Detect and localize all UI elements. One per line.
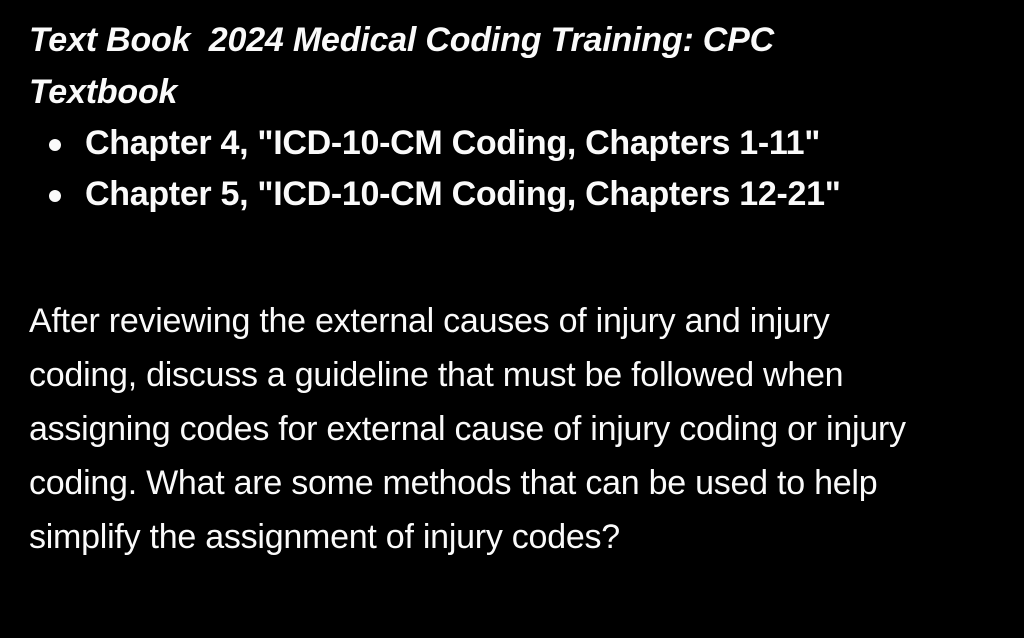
page-title: Text Book 2024 Medical Coding Training: … <box>29 14 919 118</box>
section-spacer <box>29 220 994 294</box>
list-item-label: Chapter 5, "ICD-10-CM Coding, Chapters 1… <box>85 175 841 213</box>
bullet-icon <box>49 139 61 151</box>
bullet-icon <box>49 190 61 202</box>
list-item: Chapter 4, "ICD-10-CM Coding, Chapters 1… <box>29 118 994 169</box>
list-item-label: Chapter 4, "ICD-10-CM Coding, Chapters 1… <box>85 124 820 162</box>
list-item: Chapter 5, "ICD-10-CM Coding, Chapters 1… <box>29 169 994 220</box>
reading-list: Chapter 4, "ICD-10-CM Coding, Chapters 1… <box>29 118 994 220</box>
assignment-prompt-text: After reviewing the external causes of i… <box>29 294 929 564</box>
assignment-page: Text Book 2024 Medical Coding Training: … <box>0 0 1024 638</box>
